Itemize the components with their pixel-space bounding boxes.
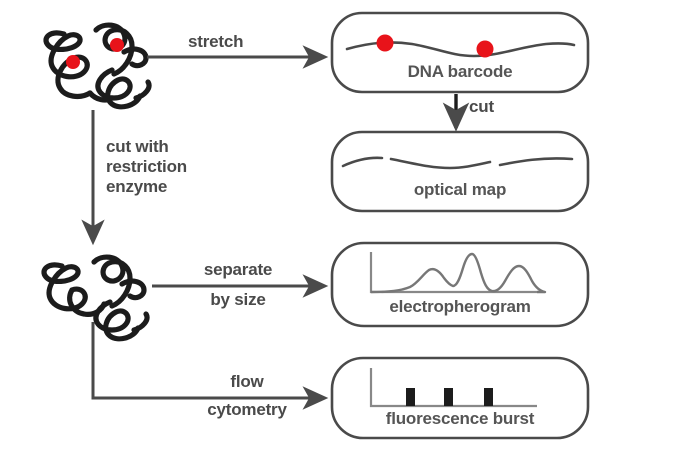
caption-electropherogram: electropherogram bbox=[332, 297, 588, 317]
coil-bottom-icon bbox=[44, 257, 147, 339]
coil-top-marker-2 bbox=[110, 38, 124, 52]
arrow-label-flow-cytometry-line2: cytometry bbox=[182, 400, 312, 419]
caption-fluorescence-burst: fluorescence burst bbox=[332, 409, 588, 429]
diagram-canvas: stretch cut cut with restriction enzyme … bbox=[0, 0, 695, 461]
arrow-label-flow-cytometry-line1: flow bbox=[182, 372, 312, 391]
arrow-label-separate-by-size-line2: by size bbox=[178, 290, 298, 309]
caption-dna-barcode: DNA barcode bbox=[332, 62, 588, 82]
coil-top-marker-1 bbox=[66, 55, 80, 69]
arrow-label-separate-by-size-line1: separate bbox=[178, 260, 298, 279]
arrow-label-cut: cut bbox=[469, 97, 494, 116]
arrow-label-cut-with-restriction-enzyme-line1: cut with bbox=[106, 137, 169, 156]
caption-optical-map: optical map bbox=[332, 180, 588, 200]
arrow-label-cut-with-restriction-enzyme-line3: enzyme bbox=[106, 177, 167, 196]
coil-top-icon bbox=[46, 25, 149, 107]
dna-barcode-marker-1 bbox=[377, 35, 394, 52]
arrow-label-cut-with-restriction-enzyme-line2: restriction bbox=[106, 157, 187, 176]
dna-barcode-marker-2 bbox=[477, 41, 494, 58]
arrow-label-stretch: stretch bbox=[188, 32, 243, 51]
